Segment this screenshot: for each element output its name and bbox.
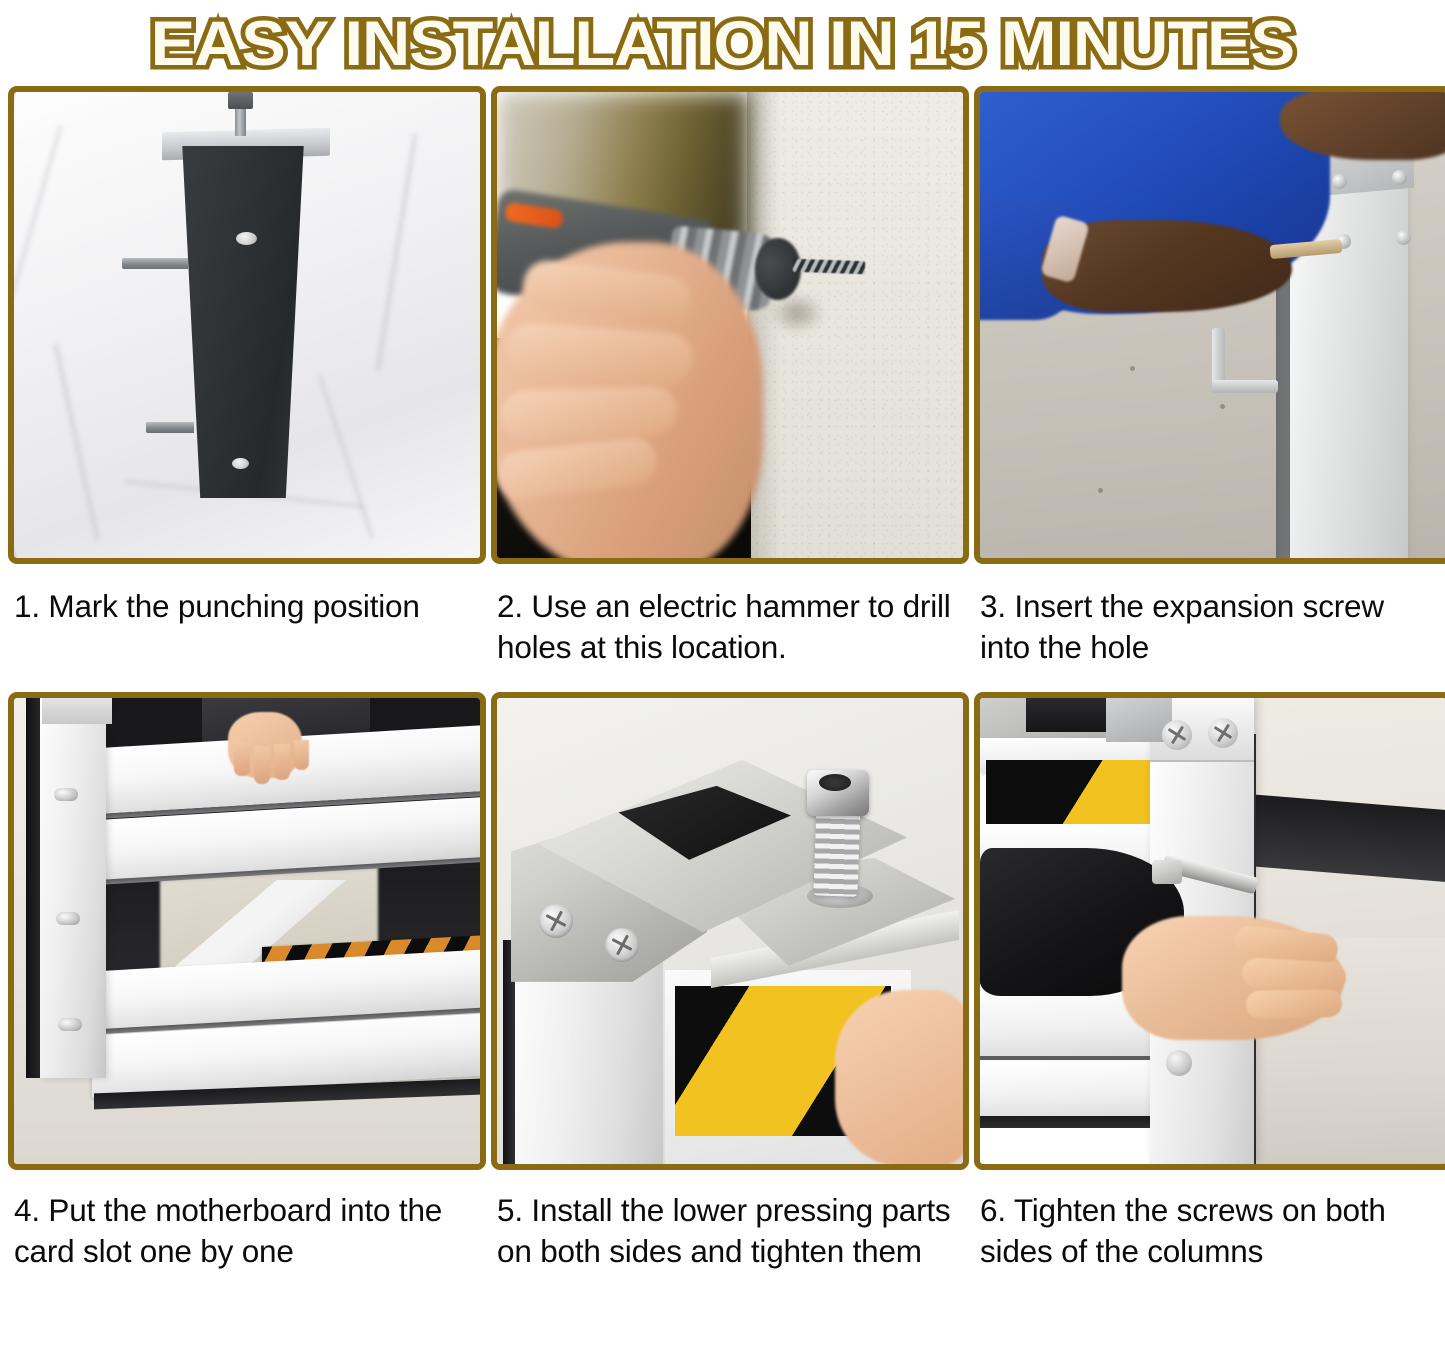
step-card-6: 6. Tighten the screws on both sides of t… — [968, 668, 1445, 1272]
step-caption-2: 2. Use an electric hammer to drill holes… — [485, 564, 963, 668]
step-photo-5 — [497, 698, 963, 1164]
step-caption-5: 5. Install the lower pressing parts on b… — [485, 1170, 963, 1272]
step-caption-1: 1. Mark the punching position — [2, 564, 480, 627]
step-photo-1 — [14, 92, 480, 558]
step-photo-4 — [14, 698, 480, 1164]
step-photo-frame-2 — [491, 86, 969, 564]
step-card-3: 3. Insert the expansion screw into the h… — [968, 86, 1445, 668]
page-title: EASY INSTALLATION IN 15 MINUTES — [151, 13, 1294, 76]
step-photo-frame-1 — [8, 86, 486, 564]
step-photo-frame-6 — [974, 692, 1445, 1170]
step-card-2: 2. Use an electric hammer to drill holes… — [485, 86, 963, 668]
step-card-4: 4. Put the motherboard into the card slo… — [2, 668, 480, 1272]
step-photo-frame-4 — [8, 692, 486, 1170]
step-photo-3 — [980, 92, 1445, 558]
step-caption-6: 6. Tighten the screws on both sides of t… — [968, 1170, 1445, 1272]
step-photo-frame-5 — [491, 692, 969, 1170]
step-caption-3: 3. Insert the expansion screw into the h… — [968, 564, 1445, 668]
header-banner: EASY INSTALLATION IN 15 MINUTES — [0, 0, 1445, 86]
step-photo-2 — [497, 92, 963, 558]
step-photo-6 — [980, 698, 1445, 1164]
step-card-5: 5. Install the lower pressing parts on b… — [485, 668, 963, 1272]
step-caption-4: 4. Put the motherboard into the card slo… — [2, 1170, 480, 1272]
steps-grid: 1. Mark the punching position — [0, 86, 1445, 1272]
step-card-1: 1. Mark the punching position — [2, 86, 480, 668]
step-photo-frame-3 — [974, 86, 1445, 564]
